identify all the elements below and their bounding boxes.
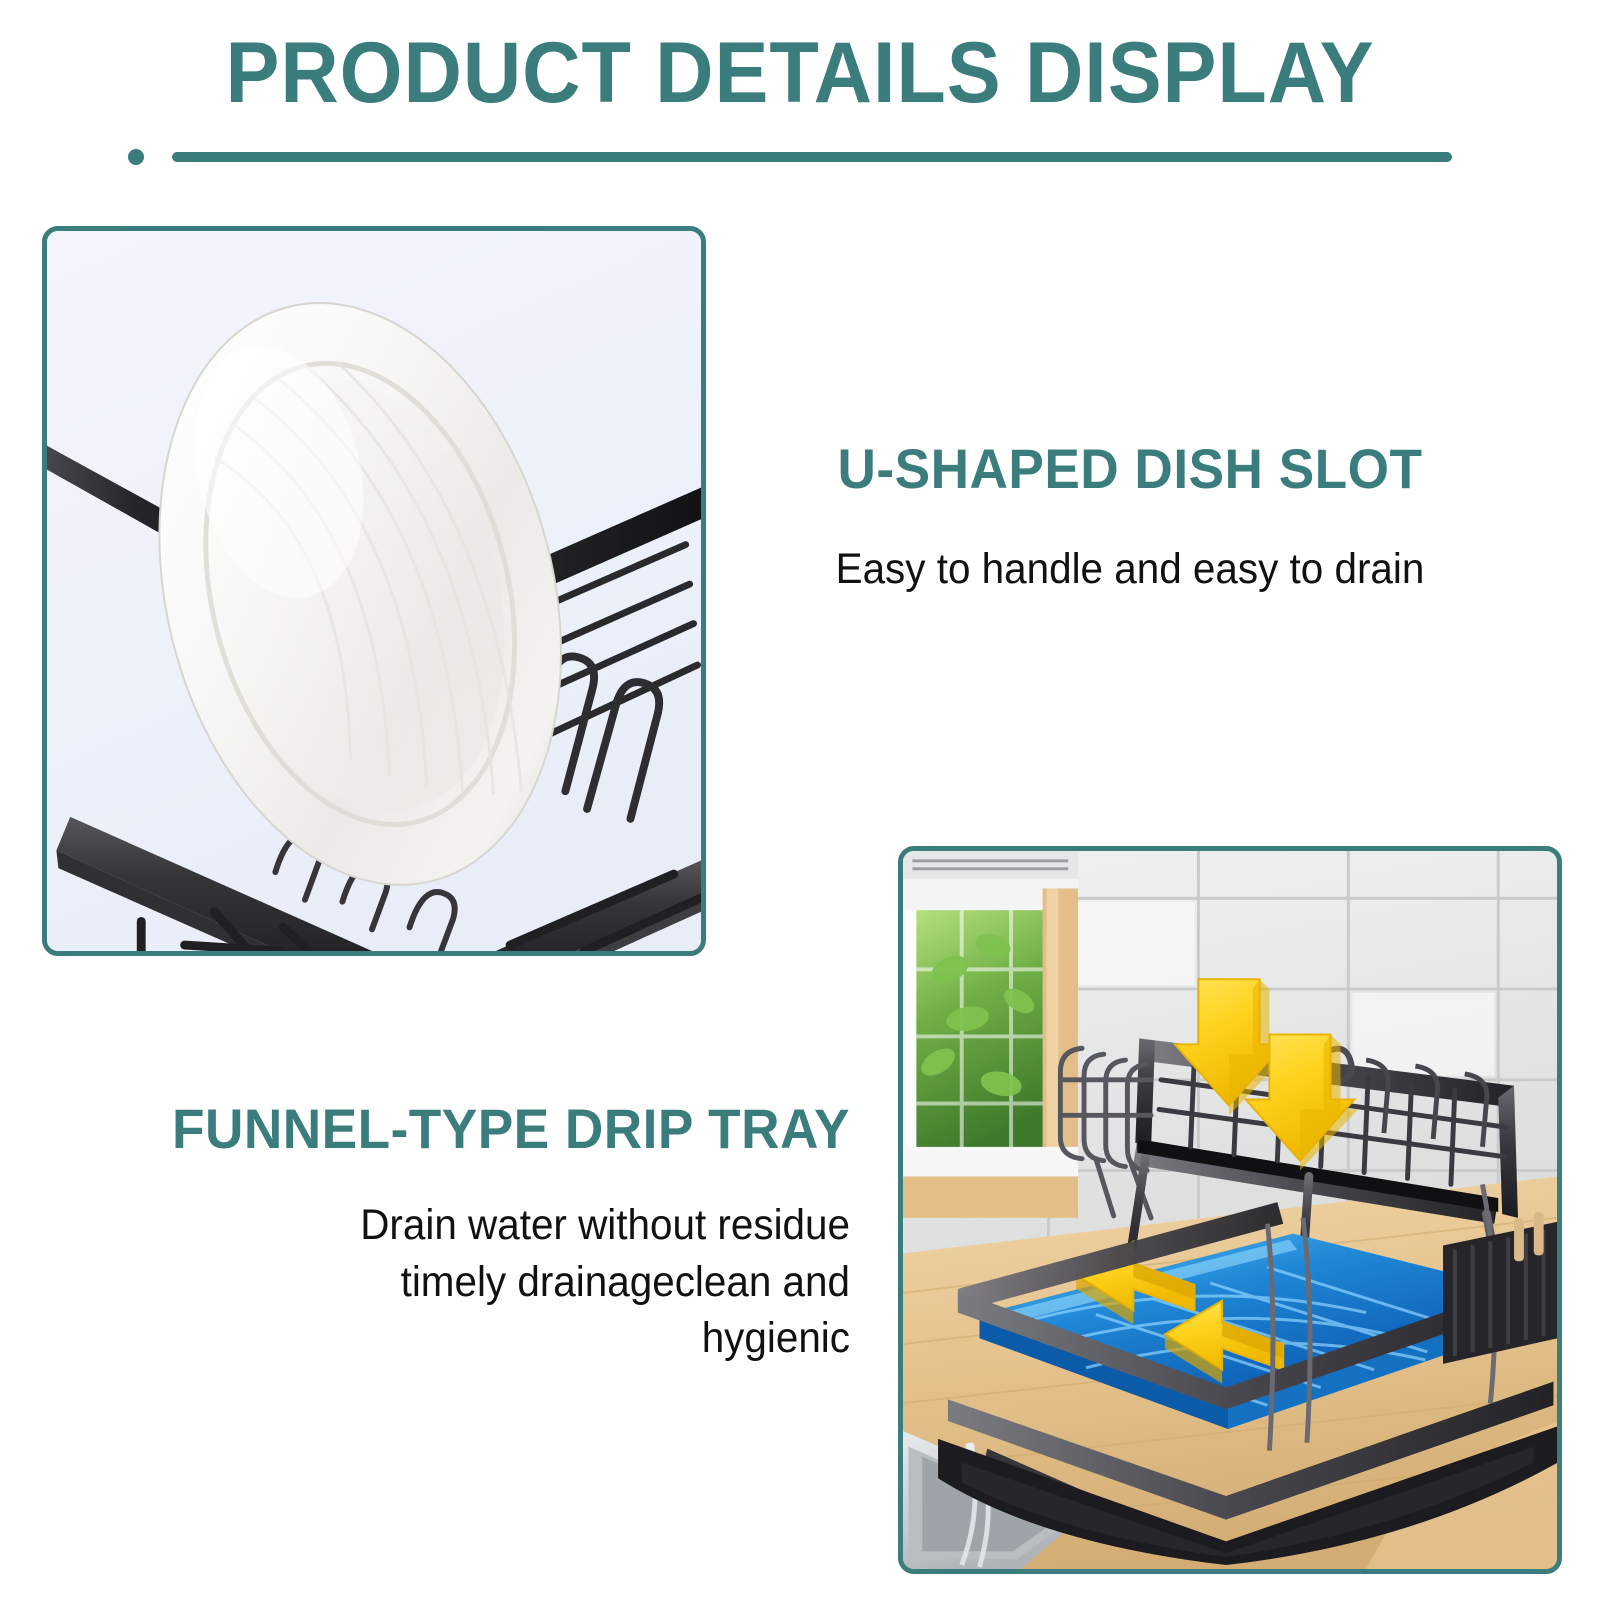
feature-heading-dish-slot: U-SHAPED DISH SLOT bbox=[779, 440, 1482, 499]
title-divider bbox=[128, 148, 1452, 162]
image-u-shaped-dish-slot bbox=[42, 226, 706, 956]
divider-bar bbox=[172, 152, 1452, 162]
page-title: PRODUCT DETAILS DISPLAY bbox=[48, 28, 1552, 118]
feature-body-drip-tray: Drain water without residue timely drain… bbox=[107, 1197, 850, 1367]
dish-slot-illustration bbox=[47, 231, 701, 951]
kitchen-window bbox=[903, 851, 1078, 1218]
drip-tray-illustration bbox=[903, 851, 1557, 1569]
feature-body-line-1: Drain water without residue bbox=[107, 1197, 850, 1254]
feature-heading-drip-tray: FUNNEL-TYPE DRIP TRAY bbox=[100, 1100, 851, 1159]
feature-block-drip-tray: FUNNEL-TYPE DRIP TRAY Drain water withou… bbox=[60, 1100, 850, 1367]
feature-body-dish-slot: Easy to handle and easy to drain bbox=[782, 541, 1478, 598]
divider-dot bbox=[128, 149, 144, 165]
image-funnel-type-drip-tray bbox=[898, 846, 1562, 1574]
feature-block-dish-slot: U-SHAPED DISH SLOT Easy to handle and ea… bbox=[760, 440, 1500, 598]
feature-body-line-3: hygienic bbox=[107, 1310, 850, 1367]
feature-body-line-2: timely drainageclean and bbox=[107, 1254, 850, 1311]
